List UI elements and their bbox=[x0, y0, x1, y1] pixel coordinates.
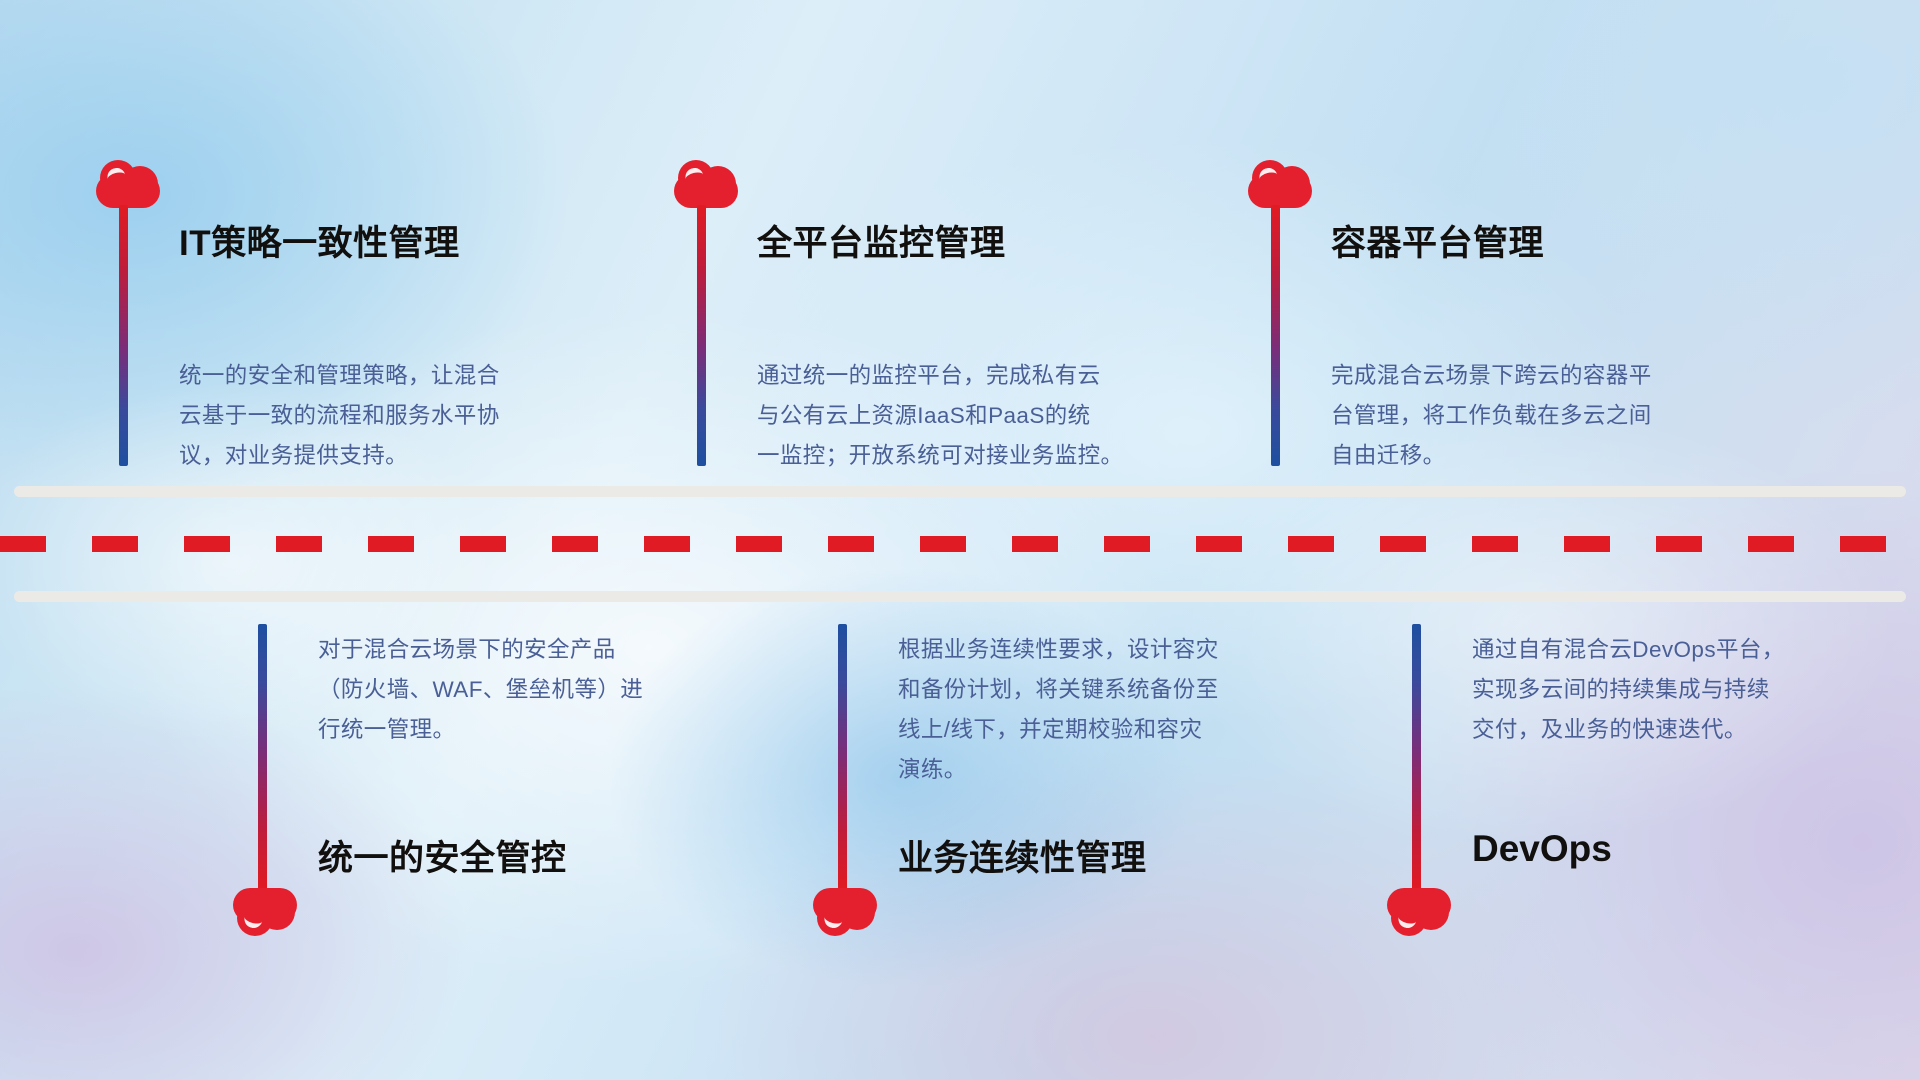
description-line: 通过统一的监控平台，完成私有云 bbox=[757, 356, 1123, 396]
marker-business-continuity[interactable] bbox=[813, 888, 877, 936]
cloud-icon bbox=[813, 888, 877, 936]
description-line: 云基于一致的流程和服务水平协 bbox=[179, 396, 500, 436]
description-line: 通过自有混合云DevOps平台， bbox=[1472, 630, 1785, 670]
cloud-icon bbox=[1387, 888, 1451, 936]
marker-title-it-policy-consistency: IT策略一致性管理 bbox=[179, 215, 460, 266]
marker-title-unified-security: 统一的安全管控 bbox=[318, 830, 567, 881]
marker-title-container-platform: 容器平台管理 bbox=[1331, 215, 1544, 266]
marker-stem-devops bbox=[1412, 624, 1421, 890]
marker-devops[interactable] bbox=[1387, 888, 1451, 936]
description-line: 交付，及业务的快速迭代。 bbox=[1472, 710, 1785, 750]
description-line: 线上/线下，并定期校验和容灾 bbox=[898, 710, 1219, 750]
cloud-icon bbox=[96, 160, 160, 208]
description-line: 统一的安全和管理策略，让混合 bbox=[179, 356, 500, 396]
description-line: 根据业务连续性要求，设计容灾 bbox=[898, 630, 1219, 670]
description-line: 演练。 bbox=[898, 750, 1219, 790]
marker-full-platform-monitoring[interactable] bbox=[674, 160, 738, 208]
description-line: 对于混合云场景下的安全产品 bbox=[318, 630, 643, 670]
cloud-icon bbox=[1248, 160, 1312, 208]
cloud-icon bbox=[674, 160, 738, 208]
marker-description-devops: 通过自有混合云DevOps平台， 实现多云间的持续集成与持续 交付，及业务的快速… bbox=[1472, 630, 1785, 750]
description-line: 和备份计划，将关键系统备份至 bbox=[898, 670, 1219, 710]
marker-description-full-platform-monitoring: 通过统一的监控平台，完成私有云 与公有云上资源IaaS和PaaS的统 一监控；开… bbox=[757, 356, 1123, 476]
road-solid-line-bottom bbox=[14, 591, 1906, 602]
description-line: （防火墙、WAF、堡垒机等）进 bbox=[318, 670, 643, 710]
cloud-icon bbox=[233, 888, 297, 936]
marker-stem-full-platform-monitoring bbox=[697, 205, 706, 466]
description-line: 议，对业务提供支持。 bbox=[179, 436, 500, 476]
road-solid-line-top bbox=[14, 486, 1906, 497]
road-dashed-center-line bbox=[0, 536, 1920, 552]
marker-stem-it-policy-consistency bbox=[119, 205, 128, 466]
marker-container-platform[interactable] bbox=[1248, 160, 1312, 208]
description-line: 与公有云上资源IaaS和PaaS的统 bbox=[757, 396, 1123, 436]
marker-title-devops: DevOps bbox=[1472, 828, 1612, 870]
marker-unified-security[interactable] bbox=[233, 888, 297, 936]
marker-stem-container-platform bbox=[1271, 205, 1280, 466]
marker-description-container-platform: 完成混合云场景下跨云的容器平 台管理，将工作负载在多云之间 自由迁移。 bbox=[1331, 356, 1652, 476]
marker-it-policy-consistency[interactable] bbox=[96, 160, 160, 208]
marker-stem-business-continuity bbox=[838, 624, 847, 890]
marker-stem-unified-security bbox=[258, 624, 267, 890]
description-line: 台管理，将工作负载在多云之间 bbox=[1331, 396, 1652, 436]
marker-description-unified-security: 对于混合云场景下的安全产品 （防火墙、WAF、堡垒机等）进 行统一管理。 bbox=[318, 630, 643, 750]
marker-title-full-platform-monitoring: 全平台监控管理 bbox=[757, 215, 1006, 266]
description-line: 自由迁移。 bbox=[1331, 436, 1652, 476]
description-line: 行统一管理。 bbox=[318, 710, 643, 750]
marker-description-business-continuity: 根据业务连续性要求，设计容灾 和备份计划，将关键系统备份至 线上/线下，并定期校… bbox=[898, 630, 1219, 790]
marker-title-business-continuity: 业务连续性管理 bbox=[898, 830, 1147, 881]
description-line: 一监控；开放系统可对接业务监控。 bbox=[757, 436, 1123, 476]
road-divider bbox=[0, 486, 1920, 602]
description-line: 实现多云间的持续集成与持续 bbox=[1472, 670, 1785, 710]
marker-description-it-policy-consistency: 统一的安全和管理策略，让混合 云基于一致的流程和服务水平协 议，对业务提供支持。 bbox=[179, 356, 500, 476]
description-line: 完成混合云场景下跨云的容器平 bbox=[1331, 356, 1652, 396]
